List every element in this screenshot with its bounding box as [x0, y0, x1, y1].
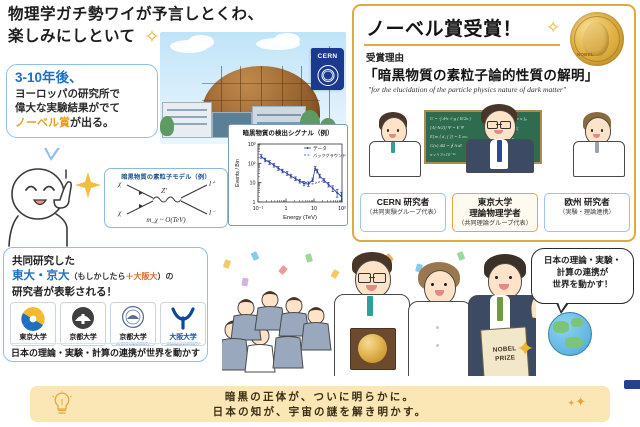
award-reason-en: "for the elucidation of the particle phy… — [368, 85, 566, 94]
joint-paren-open: （もしかしたら — [70, 272, 126, 281]
svg-text:10²: 10² — [248, 161, 256, 167]
joint-line-1: 共同研究した — [12, 253, 75, 268]
university-logo-row: 東京大学 京都大学 — [10, 302, 206, 346]
joint-line-3: 研究者が表彰される！ — [12, 284, 117, 299]
svg-text:Energy (TeV): Energy (TeV) — [283, 215, 317, 221]
feynman-mass-relation: m_χ ~ O(TeV) — [105, 216, 227, 224]
kyoto-logo-icon — [70, 306, 96, 331]
prediction-line-4-suffix: が出る。 — [70, 117, 114, 129]
prediction-line-1: 3-10年後、 — [15, 70, 150, 87]
joint-universities-highlight: 東大・京大 — [12, 270, 70, 282]
university-name: 京都大学 — [69, 332, 96, 342]
nobel-award-card: ノーベル賞受賞！ ✧ NOBEL 受賞理由 「暗黒物質の素粒子論的性質の解明」 … — [352, 4, 636, 242]
researcher-name-line-1: 東京大学 — [454, 197, 536, 208]
cern-logo-icon — [317, 65, 338, 86]
researcher-figure-utokyo — [466, 106, 532, 170]
prediction-line-3: 偉大な実験結果がでて — [15, 102, 150, 116]
svg-text:10: 10 — [250, 181, 256, 187]
researcher-card-europe[interactable]: 欧州 研究者 （実験・理論連携） — [544, 193, 630, 232]
joint-research-box: 共同研究した 東大・京大（もしかしたら＋大阪大）の 研究者が表彰される！ — [3, 247, 208, 362]
joint-paren-close: ）の — [158, 272, 174, 281]
researcher-figure-cern — [368, 114, 420, 170]
nobel-card-title: ノーベル賞受賞！ — [366, 14, 522, 41]
svg-text:データ: データ — [313, 145, 327, 152]
university-card-kyoto[interactable]: 京都大学 — [60, 302, 106, 346]
award-ceremony-illustration: NOBEL PRIZE ✦ — [206, 248, 536, 376]
university-card-osaka[interactable]: 大阪大学 OSAKA UNIVERSITY — [160, 302, 206, 346]
feynman-out-top: l⁺ — [209, 179, 215, 188]
summary-banner: 暗黒の正体が、ついに明らかに。 日本の知が、宇宙の謎を解き明かす。 ✦✦ — [30, 386, 610, 422]
nobel-medal-plaque — [350, 328, 396, 370]
medal-label: NOBEL — [577, 52, 594, 57]
nobel-keyword: ノーベル賞 — [15, 117, 70, 129]
award-recipient-center — [406, 262, 472, 376]
sparkle-icon: ✦✦ — [568, 394, 586, 410]
osaka-logo-icon — [170, 306, 196, 331]
joint-line-2: 東大・京大（もしかしたら＋大阪大）の — [12, 267, 174, 283]
award-reason-label: 受賞理由 — [366, 50, 404, 64]
nobel-medal-icon: NOBEL — [570, 12, 624, 66]
university-name: 東京大学 — [19, 332, 46, 342]
chart-title: 暗黒物質の検出シグナル（例） — [232, 128, 344, 137]
chart-plot-area: 10⁻¹11010²11010²10³Energy (TeV)Events / … — [232, 138, 346, 222]
cern-flag-label: CERN — [311, 53, 344, 60]
world-bubble-line-3: 世界を動かす！ — [536, 278, 629, 290]
university-card-kyoto-en[interactable]: 京都大学 KYOTO UNIVERSITY — [110, 302, 156, 346]
researcher-card-utokyo[interactable]: 東京大学 理論物理学者 （共同理論グループ代表） — [452, 193, 538, 232]
banner-line-1: 暗黒の正体が、ついに明らかに。 — [30, 390, 610, 405]
world-bubble-line-1: 日本の理論・実験・ — [536, 254, 629, 266]
smiling-mascot-icon — [2, 160, 110, 248]
detection-signal-chart: 暗黒物質の検出シグナル（例） 10⁻¹11010²11010²10³Energy… — [228, 124, 348, 226]
corner-marker — [624, 380, 640, 389]
university-name: 京都大学 — [119, 332, 146, 342]
svg-text:10³: 10³ — [248, 142, 256, 148]
sparkle-icon: ✧ — [144, 26, 160, 49]
svg-text:10: 10 — [311, 206, 317, 212]
svg-text:10⁻¹: 10⁻¹ — [253, 206, 264, 212]
award-recipient-left — [334, 252, 408, 376]
earth-globe-icon — [548, 312, 592, 356]
kyoto-seal-icon — [120, 306, 146, 331]
joint-research-caption: 日本の理論・実験・計算の連携が世界を動かす — [4, 346, 207, 359]
divider — [364, 44, 560, 46]
certificate-line-2: PRIZE — [495, 354, 516, 364]
researcher-cards: CERN 研究者 （共同実験グループ代表） 東京大学 理論物理学者 （共同理論グ… — [360, 193, 630, 232]
feynman-in-top: χ — [118, 179, 121, 188]
joint-osaka-highlight: ＋大阪大 — [126, 272, 158, 281]
researcher-role: （共同実験グループ代表） — [362, 209, 444, 217]
poster-root: 物理学ガチ勢ワイが予言しとくわ、 楽しみにしといて ✧ 3-10年後、 ヨーロッ… — [0, 0, 640, 427]
svg-text:バックグラウンド: バックグラウンド — [313, 152, 346, 159]
researcher-name-line-2: 理論物理学者 — [454, 208, 536, 219]
researcher-role: （共同理論グループ代表） — [454, 220, 536, 228]
banner-line-2: 日本の知が、宇宙の謎を解き明かす。 — [30, 405, 610, 420]
svg-text:10²: 10² — [338, 206, 346, 212]
svg-text:1: 1 — [253, 200, 256, 206]
researcher-card-cern[interactable]: CERN 研究者 （共同実験グループ代表） — [360, 193, 446, 232]
headline-line-1: 物理学ガチ勢ワイが予言しとくわ、 — [8, 4, 353, 26]
sparkle-icon: ✦ — [516, 338, 534, 360]
divider — [10, 343, 201, 344]
world-bubble-line-2: 計算の連携が — [536, 266, 629, 278]
feynman-mediator: Z′ — [161, 186, 167, 195]
sparkle-icon: ✧ — [546, 18, 560, 38]
utokyo-logo-icon — [20, 306, 46, 331]
award-reason-ja: 「暗黒物質の素粒子論的性質の解明」 — [364, 64, 599, 84]
researcher-role: （実験・理論連携） — [546, 209, 628, 217]
university-card-utokyo[interactable]: 東京大学 — [10, 302, 56, 346]
banner-text: 暗黒の正体が、ついに明らかに。 日本の知が、宇宙の謎を解き明かす。 — [30, 390, 610, 420]
researcher-name: 欧州 研究者 — [546, 197, 628, 208]
svg-text:Events / Bin: Events / Bin — [235, 159, 241, 187]
svg-text:1: 1 — [285, 206, 288, 212]
prediction-speech-bubble: 3-10年後、 ヨーロッパの研究所で 偉大な実験結果がでて ノーベル賞が出る。 — [6, 64, 158, 138]
prediction-line-4: ノーベル賞が出る。 — [15, 116, 150, 131]
university-name: 大阪大学 — [169, 332, 196, 342]
cern-flag: CERN — [311, 48, 344, 90]
dark-matter-model-panel: 暗黒物質の素粒子モデル（例） χ χ Z′ l⁺ l⁻ m_χ ~ O(TeV) — [104, 168, 228, 228]
world-impact-speech-bubble: 日本の理論・実験・ 計算の連携が 世界を動かす！ — [531, 248, 634, 304]
researcher-name: CERN 研究者 — [362, 197, 444, 208]
prediction-line-2: ヨーロッパの研究所で — [15, 88, 150, 102]
researcher-figure-europe — [572, 114, 624, 170]
crowd-group — [222, 286, 342, 376]
